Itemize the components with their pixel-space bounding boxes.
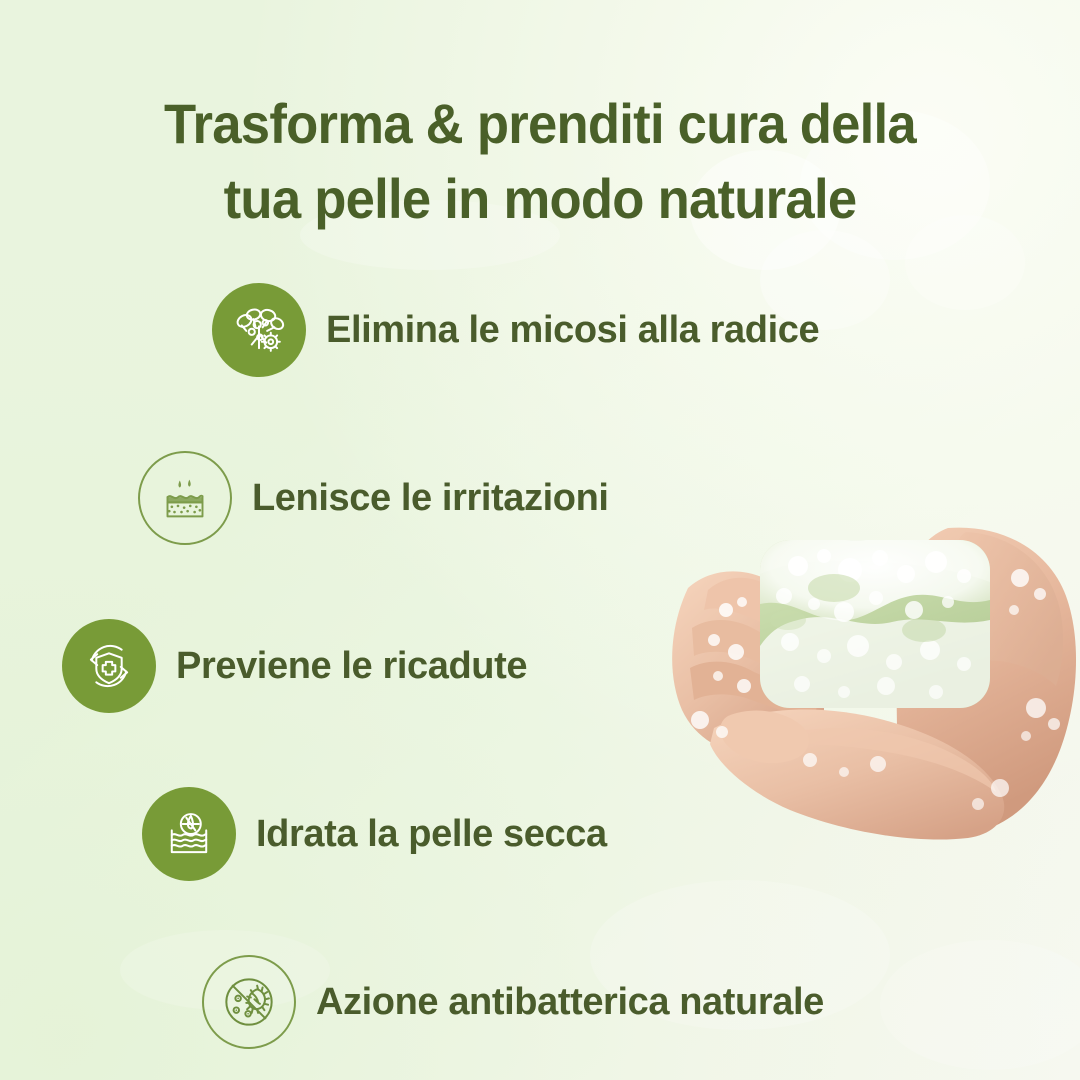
list-item[interactable]: Elimina le micosi alla radice [0,272,1080,388]
page-title-line-1: Trasforma & prenditi cura della [85,86,995,161]
shield-refresh-icon [62,619,156,713]
list-item-label: Elimina le micosi alla radice [326,309,819,352]
no-bacteria-icon [202,955,296,1049]
skin-layers-icon [138,451,232,545]
page-title-line-2: tua pelle in modo naturale [85,161,995,236]
list-item-label: Idrata la pelle secca [256,813,607,856]
list-item-label: Previene le ricadute [176,645,527,688]
list-item[interactable]: Azione antibatterica naturale [0,944,1080,1060]
page-title: Trasforma & prenditi cura della tua pell… [32,86,1047,236]
list-item-label: Azione antibatterica naturale [316,981,824,1024]
benefits-list: Elimina le micosi alla radice [0,272,1080,1080]
list-item[interactable]: Previene le ricadute [0,608,1080,724]
fungus-icon [212,283,306,377]
list-item[interactable]: Idrata la pelle secca [0,776,1080,892]
poster-canvas: Trasforma & prenditi cura della tua pell… [0,0,1080,1080]
list-item[interactable]: Lenisce le irritazioni [0,440,1080,556]
list-item-label: Lenisce le irritazioni [252,477,609,520]
hydration-water-icon [142,787,236,881]
